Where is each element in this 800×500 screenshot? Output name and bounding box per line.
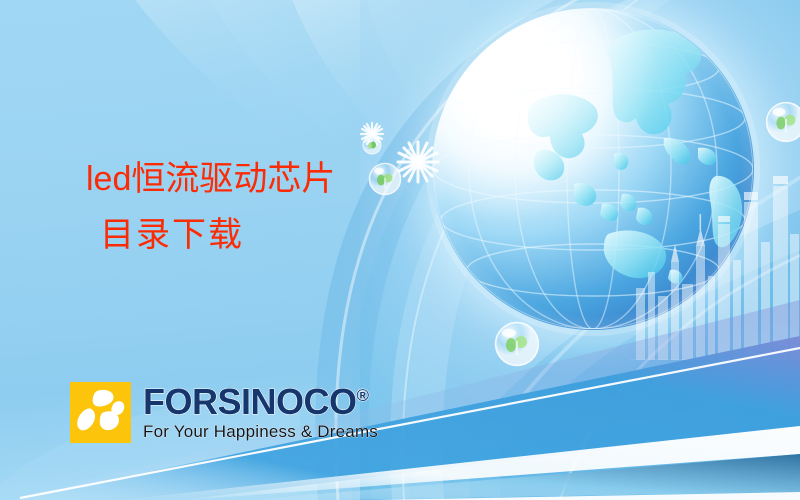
bubble-sprout-left — [362, 135, 382, 160]
diagonal-bands-icon — [0, 240, 800, 500]
bubble-sprout-right — [765, 101, 800, 148]
brand-wordmark: FORSINOCO® — [143, 384, 378, 420]
brand-tagline: For Your Happiness & Dreams — [143, 422, 378, 441]
brand-name: FORSINOCO — [143, 381, 357, 422]
headline-line-1: led恒流驱动芯片 — [86, 160, 335, 198]
headline-line-2: 目录下载 — [100, 218, 335, 252]
bubble-sprout-mid — [368, 162, 402, 201]
promo-banner: led恒流驱动芯片 目录下载 FORSINOCO® For Your Happi… — [0, 0, 800, 500]
four-petal-pinwheel-icon — [70, 382, 131, 443]
registered-mark: ® — [357, 386, 370, 405]
page-title: led恒流驱动芯片 目录下载 — [86, 162, 335, 252]
brand-logo[interactable]: FORSINOCO® For Your Happiness & Dreams — [70, 382, 378, 443]
